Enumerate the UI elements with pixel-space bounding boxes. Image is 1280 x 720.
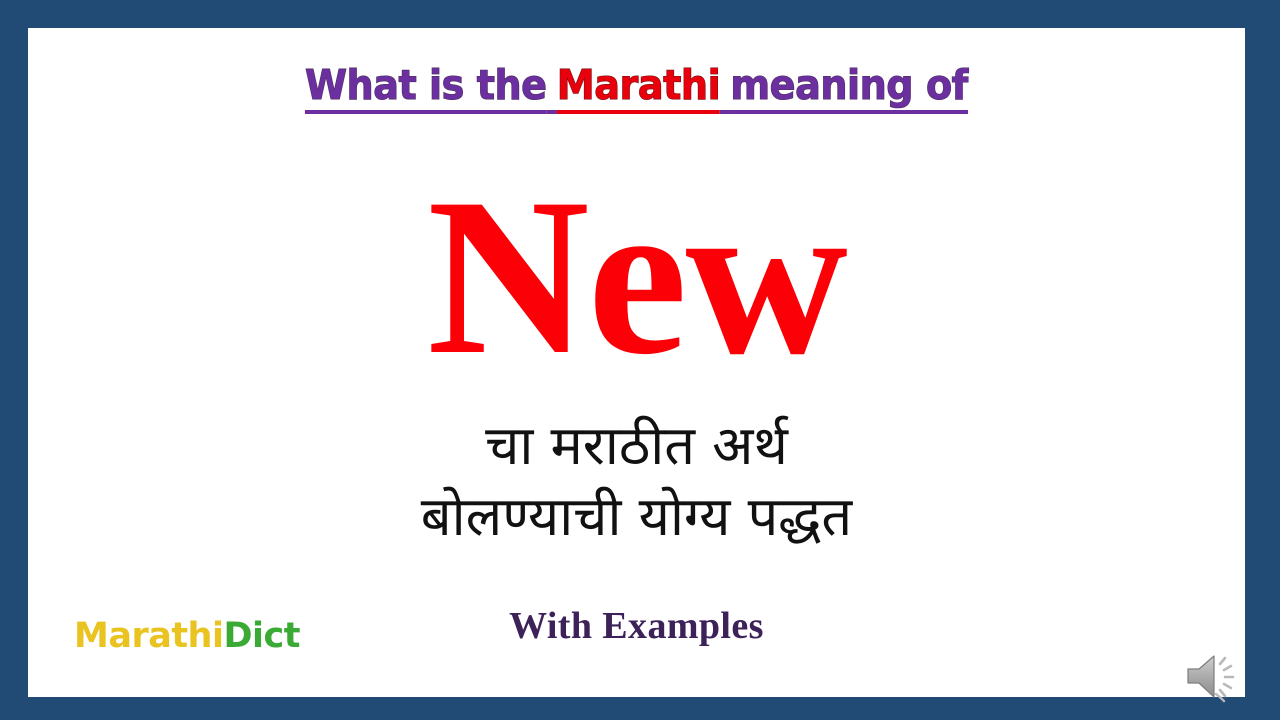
translation-block: चा मराठीत अर्थ बोलण्याची योग्य पद्धत — [28, 410, 1245, 553]
brand-logo-part-dict: Dict — [223, 616, 300, 656]
title-line: What is theMarathimeaning of — [305, 64, 968, 114]
title-space-1 — [547, 67, 557, 114]
brand-logo[interactable]: MarathiDict — [74, 616, 300, 656]
title-space-2 — [720, 67, 730, 114]
translation-line-2: बोलण्याची योग्य पद्धत — [28, 481, 1245, 552]
title-segment-what-is-the: What is the — [305, 64, 547, 114]
slide-canvas: What is theMarathimeaning of New चा मराठ… — [28, 28, 1245, 697]
slide-frame: What is theMarathimeaning of New चा मराठ… — [0, 0, 1280, 720]
brand-logo-part-marathi: Marathi — [74, 616, 223, 656]
translation-line-1: चा मराठीत अर्थ — [28, 410, 1245, 481]
speaker-icon-glyph — [1186, 650, 1248, 706]
title-segment-marathi: Marathi — [557, 64, 720, 114]
title-block: What is theMarathimeaning of — [28, 64, 1245, 114]
speaker-icon[interactable] — [1186, 650, 1248, 706]
title-segment-meaning-of: meaning of — [731, 64, 968, 114]
headword-text: New — [28, 164, 1245, 389]
